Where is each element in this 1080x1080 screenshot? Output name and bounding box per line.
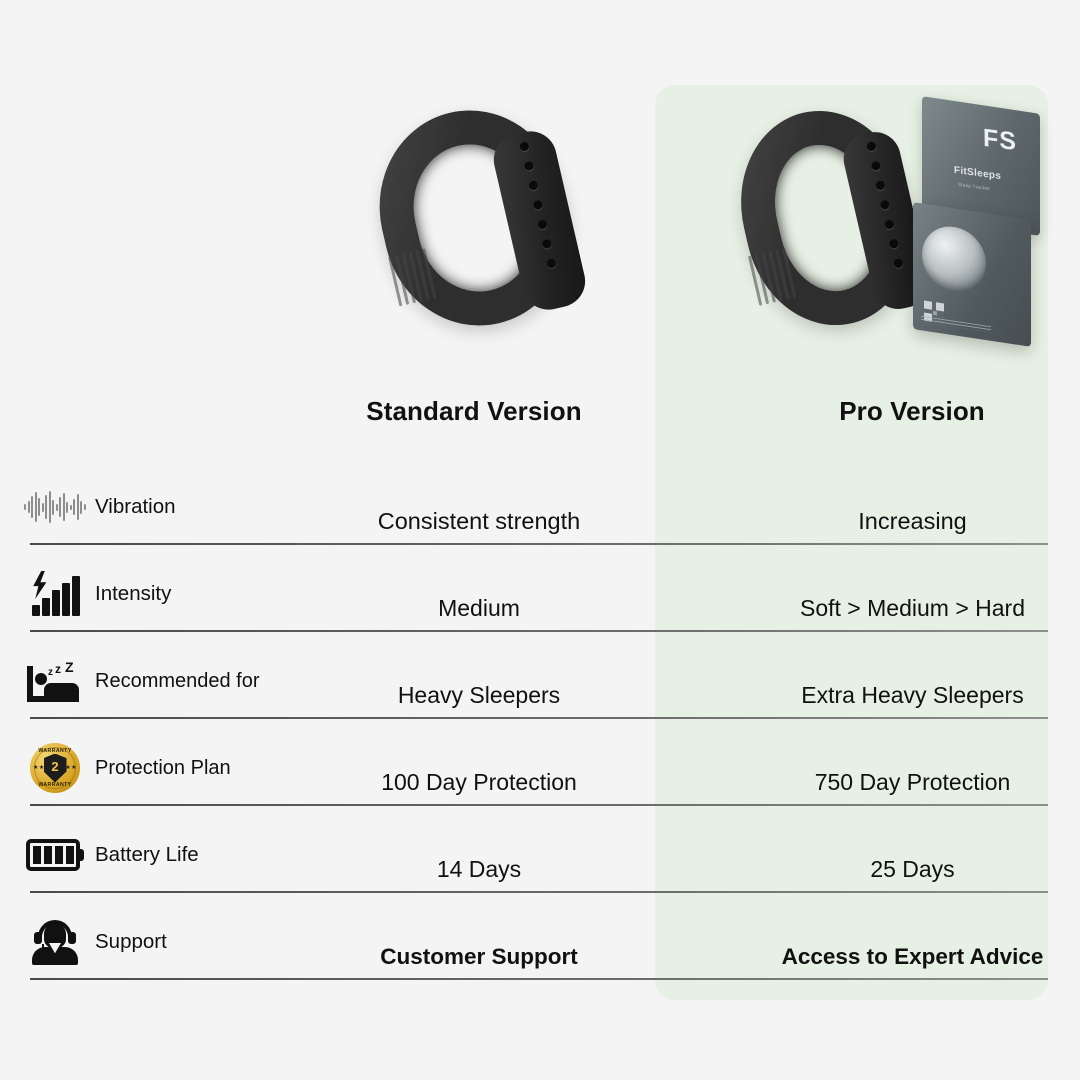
row-divider: [30, 978, 1048, 980]
badge-text-bottom: WARRANTY: [30, 782, 80, 788]
standard-version-heading: Standard Version: [324, 396, 624, 427]
pro-version-heading: Pro Version: [762, 396, 1062, 427]
pro-value: 750 Day Protection: [760, 769, 1065, 796]
table-row: Vibration Consistent strength Increasing: [0, 458, 1080, 545]
pro-value: 25 Days: [760, 856, 1065, 883]
feature-recommended-for: zzZ Recommended for: [26, 657, 260, 705]
standard-value: Heavy Sleepers: [324, 682, 634, 709]
badge-text-top: WARRANTY: [30, 748, 80, 754]
support-agent-icon: [26, 918, 84, 966]
table-row: Intensity Medium Soft > Medium > Hard: [0, 545, 1080, 632]
feature-label: Recommended for: [95, 670, 260, 693]
sleeping-person-icon: zzZ: [26, 657, 84, 705]
product-box-image: FS FitSleeps Sleep Tracker: [900, 105, 1060, 340]
table-row: Support Customer Support Access to Exper…: [0, 893, 1080, 980]
standard-value: Customer Support: [324, 944, 634, 970]
standard-value: 14 Days: [324, 856, 634, 883]
feature-label: Intensity: [95, 582, 171, 606]
pro-value: Soft > Medium > Hard: [760, 595, 1065, 622]
pro-value: Extra Heavy Sleepers: [760, 682, 1065, 709]
fitness-band-icon: [374, 103, 584, 333]
pro-value: Access to Expert Advice: [760, 944, 1065, 970]
fitness-band-icon: [736, 103, 926, 333]
product-images: FS FitSleeps Sleep Tracker: [0, 85, 1080, 385]
pro-value: Increasing: [760, 508, 1065, 535]
warranty-badge-icon: WARRANTY ★★ ★★ 2 WARRANTY: [26, 744, 84, 792]
table-row: zzZ Recommended for Heavy Sleepers Extra…: [0, 632, 1080, 719]
feature-label: Protection Plan: [95, 757, 231, 780]
table-row: WARRANTY ★★ ★★ 2 WARRANTY Protection Pla…: [0, 719, 1080, 806]
standard-value: 100 Day Protection: [324, 769, 634, 796]
battery-icon: [26, 831, 84, 879]
feature-support: Support: [26, 918, 167, 966]
feature-protection-plan: WARRANTY ★★ ★★ 2 WARRANTY Protection Pla…: [26, 744, 231, 792]
comparison-table: Vibration Consistent strength Increasing: [0, 458, 1080, 980]
standard-value: Consistent strength: [324, 508, 634, 535]
feature-label: Vibration: [95, 495, 176, 519]
standard-value: Medium: [324, 595, 634, 622]
comparison-page: FS FitSleeps Sleep Tracker Standard Vers…: [0, 0, 1080, 1080]
pro-product-image: [736, 103, 926, 333]
feature-battery-life: Battery Life: [26, 831, 199, 879]
table-row: Battery Life 14 Days 25 Days: [0, 806, 1080, 893]
box-logo: FS: [983, 124, 1017, 158]
feature-label: Support: [95, 930, 167, 954]
feature-intensity: Intensity: [26, 570, 171, 618]
standard-product-image: [374, 103, 584, 333]
feature-vibration: Vibration: [26, 483, 176, 531]
sound-wave-icon: [26, 483, 84, 531]
signal-bars-bolt-icon: [26, 570, 84, 618]
feature-label: Battery Life: [95, 843, 199, 867]
